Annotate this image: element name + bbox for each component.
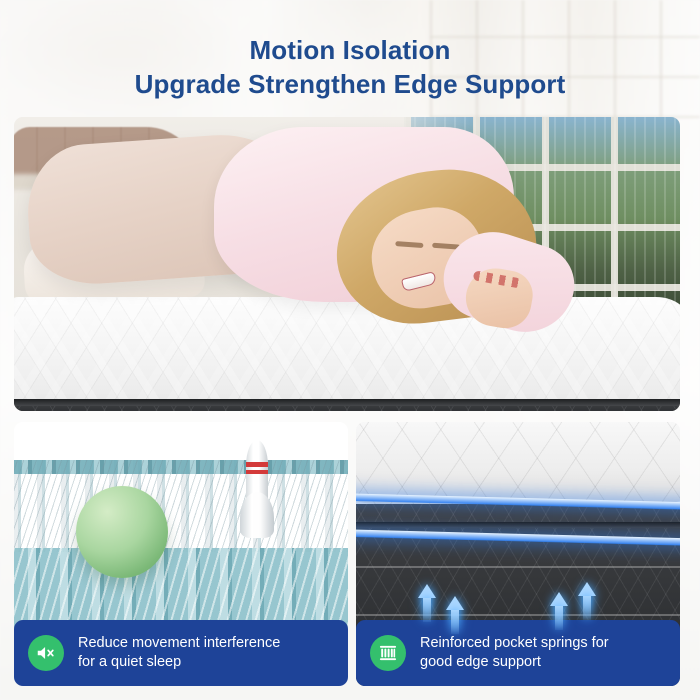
spring-row-back: [14, 460, 348, 552]
mute-speaker-icon: [28, 635, 64, 671]
caption-text: Reduce movement interference for a quiet…: [78, 634, 280, 673]
pocket-springs-icon: [370, 635, 406, 671]
caption-line-1: Reduce movement interference: [78, 635, 280, 651]
hero-photo-panel: Mattress: [14, 117, 680, 411]
mattress-quilted-top: [14, 297, 680, 411]
corner-seam: [356, 566, 680, 568]
product-feature-image: Motion Isolation Upgrade Strengthen Edge…: [0, 0, 700, 700]
corner-seam: [356, 614, 680, 616]
page-title: Motion Isolation Upgrade Strengthen Edge…: [0, 34, 700, 102]
eyebrow-left: [395, 241, 423, 248]
caption-line-1: Reinforced pocket springs for: [420, 635, 609, 651]
support-arrow-icon: [418, 584, 436, 598]
bowling-pin-body: [240, 492, 274, 538]
mattress-welt-trim: [14, 399, 680, 406]
caption-line-2: for a quiet sleep: [78, 654, 181, 670]
mattress-base: [14, 399, 680, 411]
caption-line-2: good edge support: [420, 654, 541, 670]
hero-scene: Mattress: [14, 117, 680, 411]
caption-text: Reinforced pocket springs for good edge …: [420, 634, 609, 673]
support-arrow-icon: [578, 582, 596, 596]
mattress-corner-top: [356, 422, 680, 504]
headline-line-2: Upgrade Strengthen Edge Support: [0, 68, 700, 102]
headline-line-1: Motion Isolation: [250, 35, 451, 65]
caption-motion-isolation: Reduce movement interference for a quiet…: [14, 620, 348, 686]
quilt-pattern: [14, 297, 680, 411]
green-ball: [76, 486, 168, 578]
support-arrow-icon: [446, 596, 464, 610]
support-arrow-icon: [550, 592, 568, 606]
caption-edge-support: Reinforced pocket springs for good edge …: [356, 620, 680, 686]
corner-band: [356, 522, 680, 528]
